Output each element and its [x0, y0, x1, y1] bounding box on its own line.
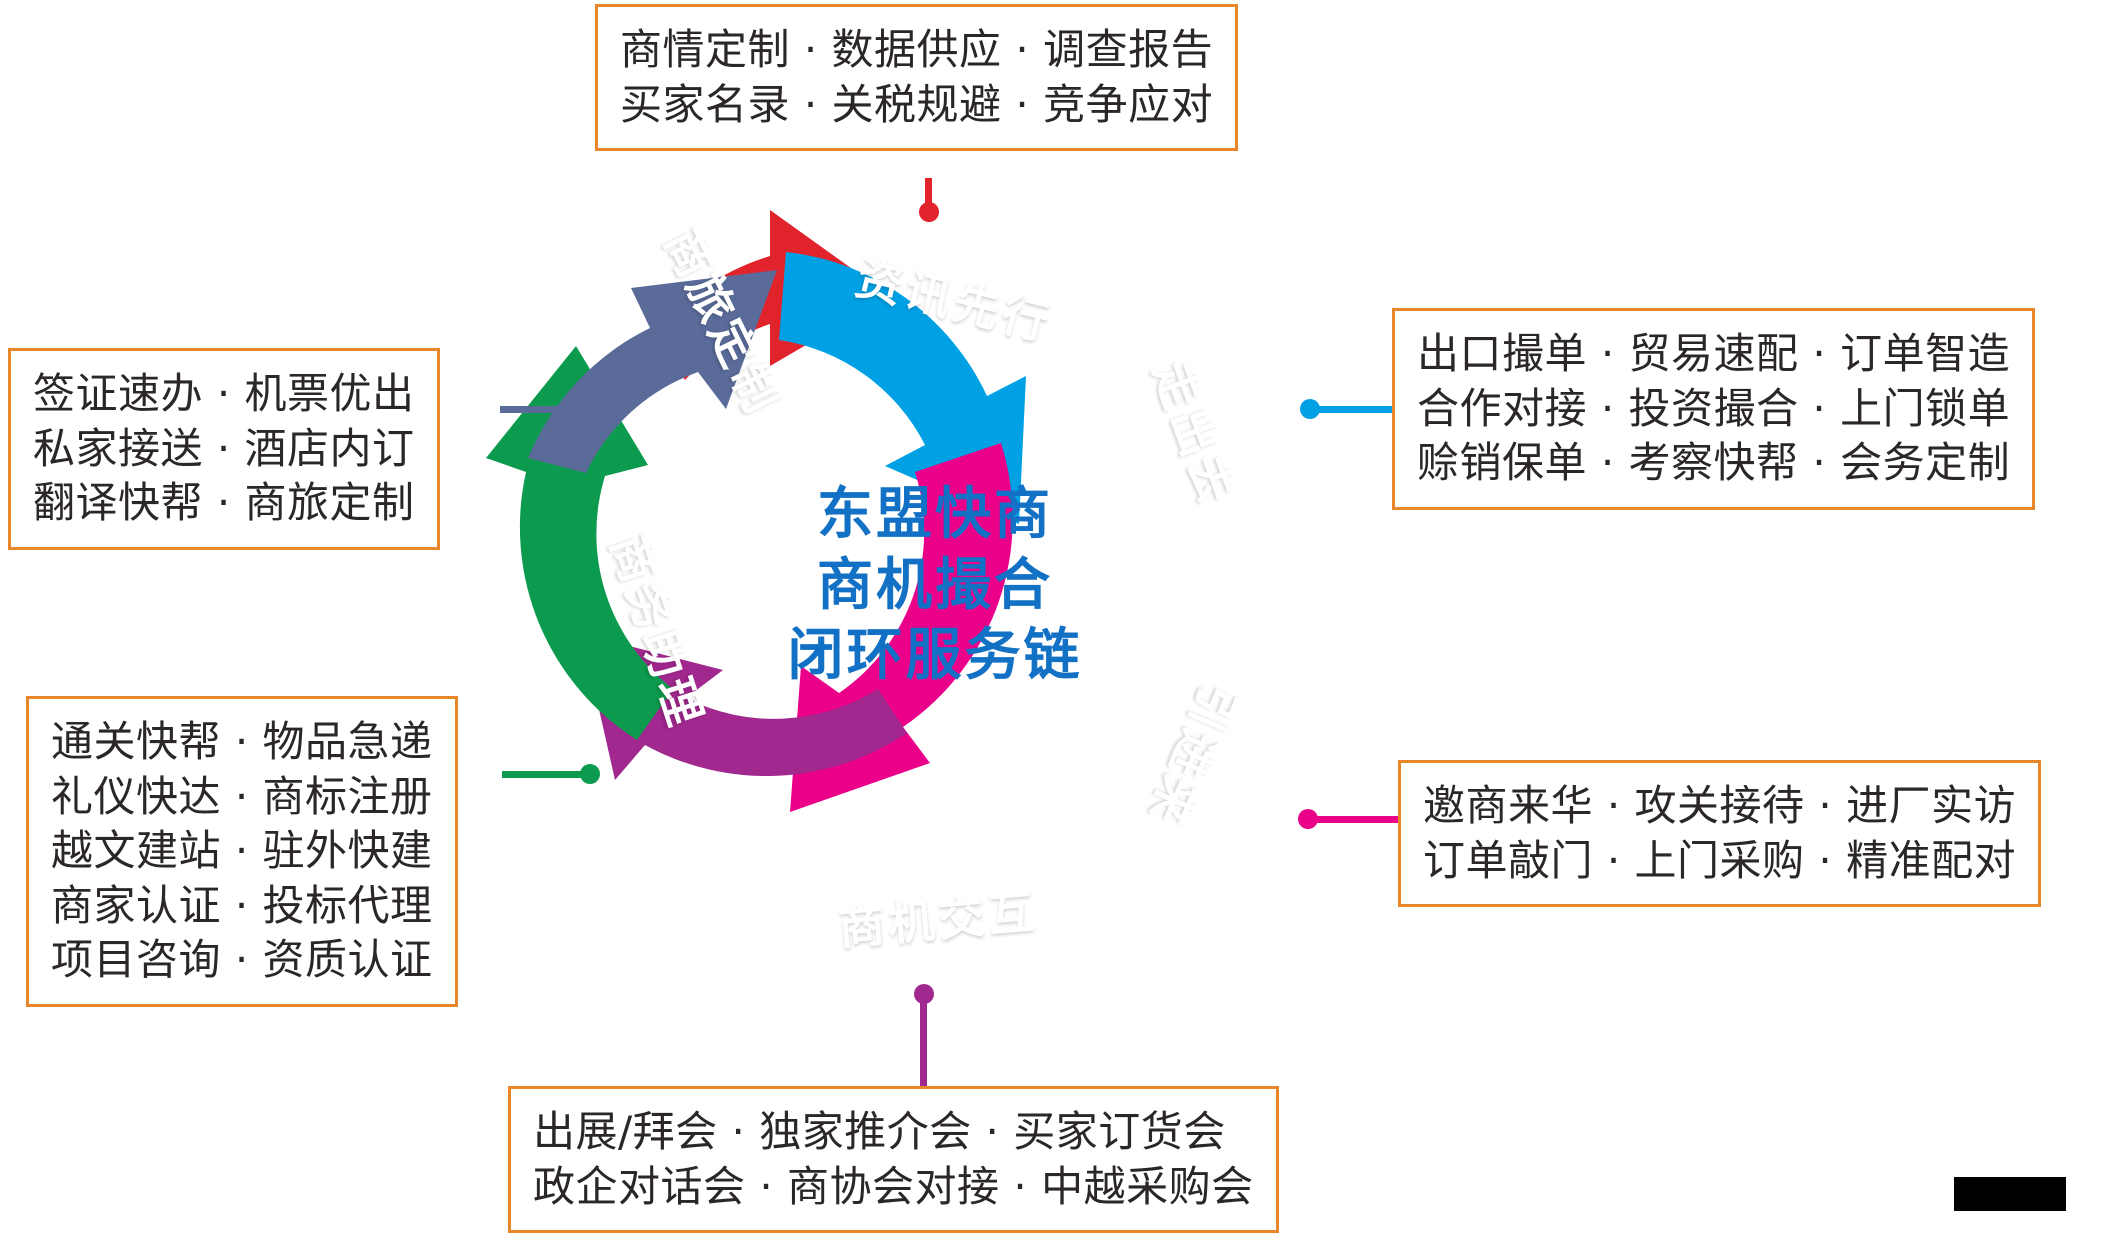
connector-biz-interact	[913, 984, 935, 1088]
center-title-block: 东盟快商 商机撮合 闭环服务链	[735, 480, 1135, 692]
callout-line: 通关快帮 · 物品急递	[51, 715, 433, 770]
callout-go-out[interactable]: 出口撮单 · 贸易速配 · 订单智造 合作对接 · 投资撮合 · 上门锁单 赊销…	[1392, 308, 2035, 510]
connector-biz-assistant	[502, 763, 602, 785]
callout-line: 政企对话会 · 商协会对接 · 中越采购会	[533, 1160, 1254, 1215]
callout-line: 商情定制 · 数据供应 · 调查报告	[620, 23, 1213, 78]
callout-line: 项目咨询 · 资质认证	[51, 933, 433, 988]
callout-line: 礼仪快达 · 商标注册	[51, 770, 433, 825]
redaction-bar	[1954, 1177, 2066, 1211]
callout-travel-custom[interactable]: 签证速办 · 机票优出 私家接送 · 酒店内订 翻译快帮 · 商旅定制	[8, 348, 440, 550]
callout-line: 签证速办 · 机票优出	[33, 367, 415, 422]
callout-line: 买家名录 · 关税规避 · 竞争应对	[620, 78, 1213, 133]
callout-line: 出口撮单 · 贸易速配 · 订单智造	[1417, 327, 2010, 382]
callout-line: 合作对接 · 投资撮合 · 上门锁单	[1417, 382, 2010, 437]
callout-line: 私家接送 · 酒店内订	[33, 422, 415, 477]
callout-info-first[interactable]: 商情定制 · 数据供应 · 调查报告 买家名录 · 关税规避 · 竞争应对	[595, 4, 1238, 151]
callout-line: 邀商来华 · 攻关接待 · 进厂实访	[1423, 779, 2016, 834]
infographic-canvas: 资讯先行 走出去 引进来 商机交互 商务助理 商旅定制 东盟快商 商机撮合 闭环…	[0, 0, 2110, 1247]
callout-line: 订单敲门 · 上门采购 · 精准配对	[1423, 834, 2016, 889]
center-title-line-2: 商机撮合	[735, 551, 1135, 622]
callout-bring-in[interactable]: 邀商来华 · 攻关接待 · 进厂实访 订单敲门 · 上门采购 · 精准配对	[1398, 760, 2041, 907]
callout-biz-assistant[interactable]: 通关快帮 · 物品急递 礼仪快达 · 商标注册 越文建站 · 驻外快建 商家认证…	[26, 696, 458, 1007]
connector-bring-in	[1298, 808, 1400, 830]
center-title-line-1: 东盟快商	[735, 480, 1135, 551]
connector-info-first	[918, 178, 940, 222]
connector-travel-custom	[500, 398, 600, 420]
callout-line: 越文建站 · 驻外快建	[51, 824, 433, 879]
center-title-line-3: 闭环服务链	[735, 621, 1135, 692]
callout-line: 商家认证 · 投标代理	[51, 879, 433, 934]
callout-line: 出展/拜会 · 独家推介会 · 买家订货会	[533, 1105, 1254, 1160]
connector-go-out	[1300, 398, 1396, 420]
callout-biz-interact[interactable]: 出展/拜会 · 独家推介会 · 买家订货会 政企对话会 · 商协会对接 · 中越…	[508, 1086, 1279, 1233]
callout-line: 赊销保单 · 考察快帮 · 会务定制	[1417, 436, 2010, 491]
callout-line: 翻译快帮 · 商旅定制	[33, 476, 415, 531]
